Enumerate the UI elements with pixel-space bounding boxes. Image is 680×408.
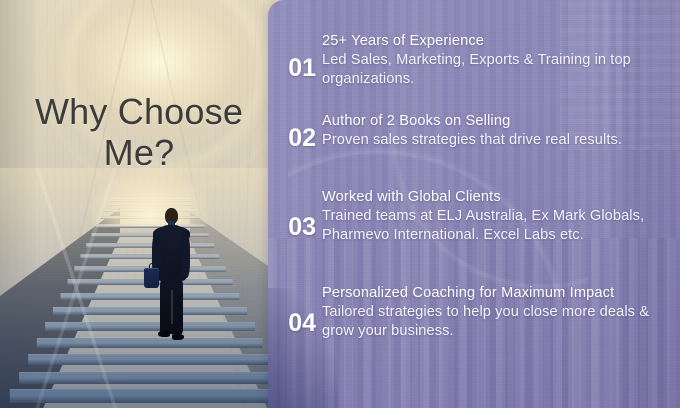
list-item-number: 01 [268, 56, 322, 81]
businessman-silhouette [140, 208, 202, 348]
list-item-heading: Worked with Global Clients [322, 188, 670, 207]
list-item-number: 03 [268, 215, 322, 240]
stair-step [109, 200, 191, 202]
list-item-heading: Author of 2 Books on Selling [322, 112, 670, 131]
list-item-body: 25+ Years of Experience Led Sales, Marke… [322, 32, 680, 89]
list-item-description: Proven sales strategies that drive real … [322, 131, 670, 150]
list-item: 02 Author of 2 Books on Selling Proven s… [268, 112, 680, 151]
list-item-heading: Personalized Coaching for Maximum Impact [322, 284, 670, 303]
left-visual-panel: Why ChooseMe? [0, 0, 300, 408]
stair-step [28, 354, 272, 365]
list-item-body: Worked with Global Clients Trained teams… [322, 188, 680, 245]
list-item: 03 Worked with Global Clients Trained te… [268, 188, 680, 245]
briefcase-icon [144, 268, 159, 288]
list-item: 01 25+ Years of Experience Led Sales, Ma… [268, 32, 680, 89]
figure-shoe-left [158, 331, 170, 337]
list-item-description: Led Sales, Marketing, Exports & Training… [322, 51, 670, 89]
list-item-description: Trained teams at ELJ Australia, Ex Mark … [322, 207, 670, 245]
figure-arm-right [181, 232, 190, 278]
stair-step [10, 389, 291, 402]
list-item-number: 02 [268, 126, 322, 151]
stair-step [19, 372, 281, 384]
list-item: 04 Personalized Coaching for Maximum Imp… [268, 284, 680, 341]
benefits-list: 01 25+ Years of Experience Led Sales, Ma… [268, 0, 680, 408]
stair-step [107, 204, 193, 206]
figure-shoe-right [172, 334, 184, 340]
list-item-description: Tailored strategies to help you close mo… [322, 303, 670, 341]
list-item-body: Personalized Coaching for Maximum Impact… [322, 284, 680, 341]
list-item-number: 04 [268, 311, 322, 336]
page-title: Why ChooseMe? [14, 92, 264, 173]
list-item-body: Author of 2 Books on Selling Proven sale… [322, 112, 680, 151]
figure-leg-split [171, 290, 173, 324]
staircase-image [0, 168, 300, 408]
list-item-heading: 25+ Years of Experience [322, 32, 670, 51]
slide-canvas: Why ChooseMe? 01 25+ Years of Experience… [0, 0, 680, 408]
